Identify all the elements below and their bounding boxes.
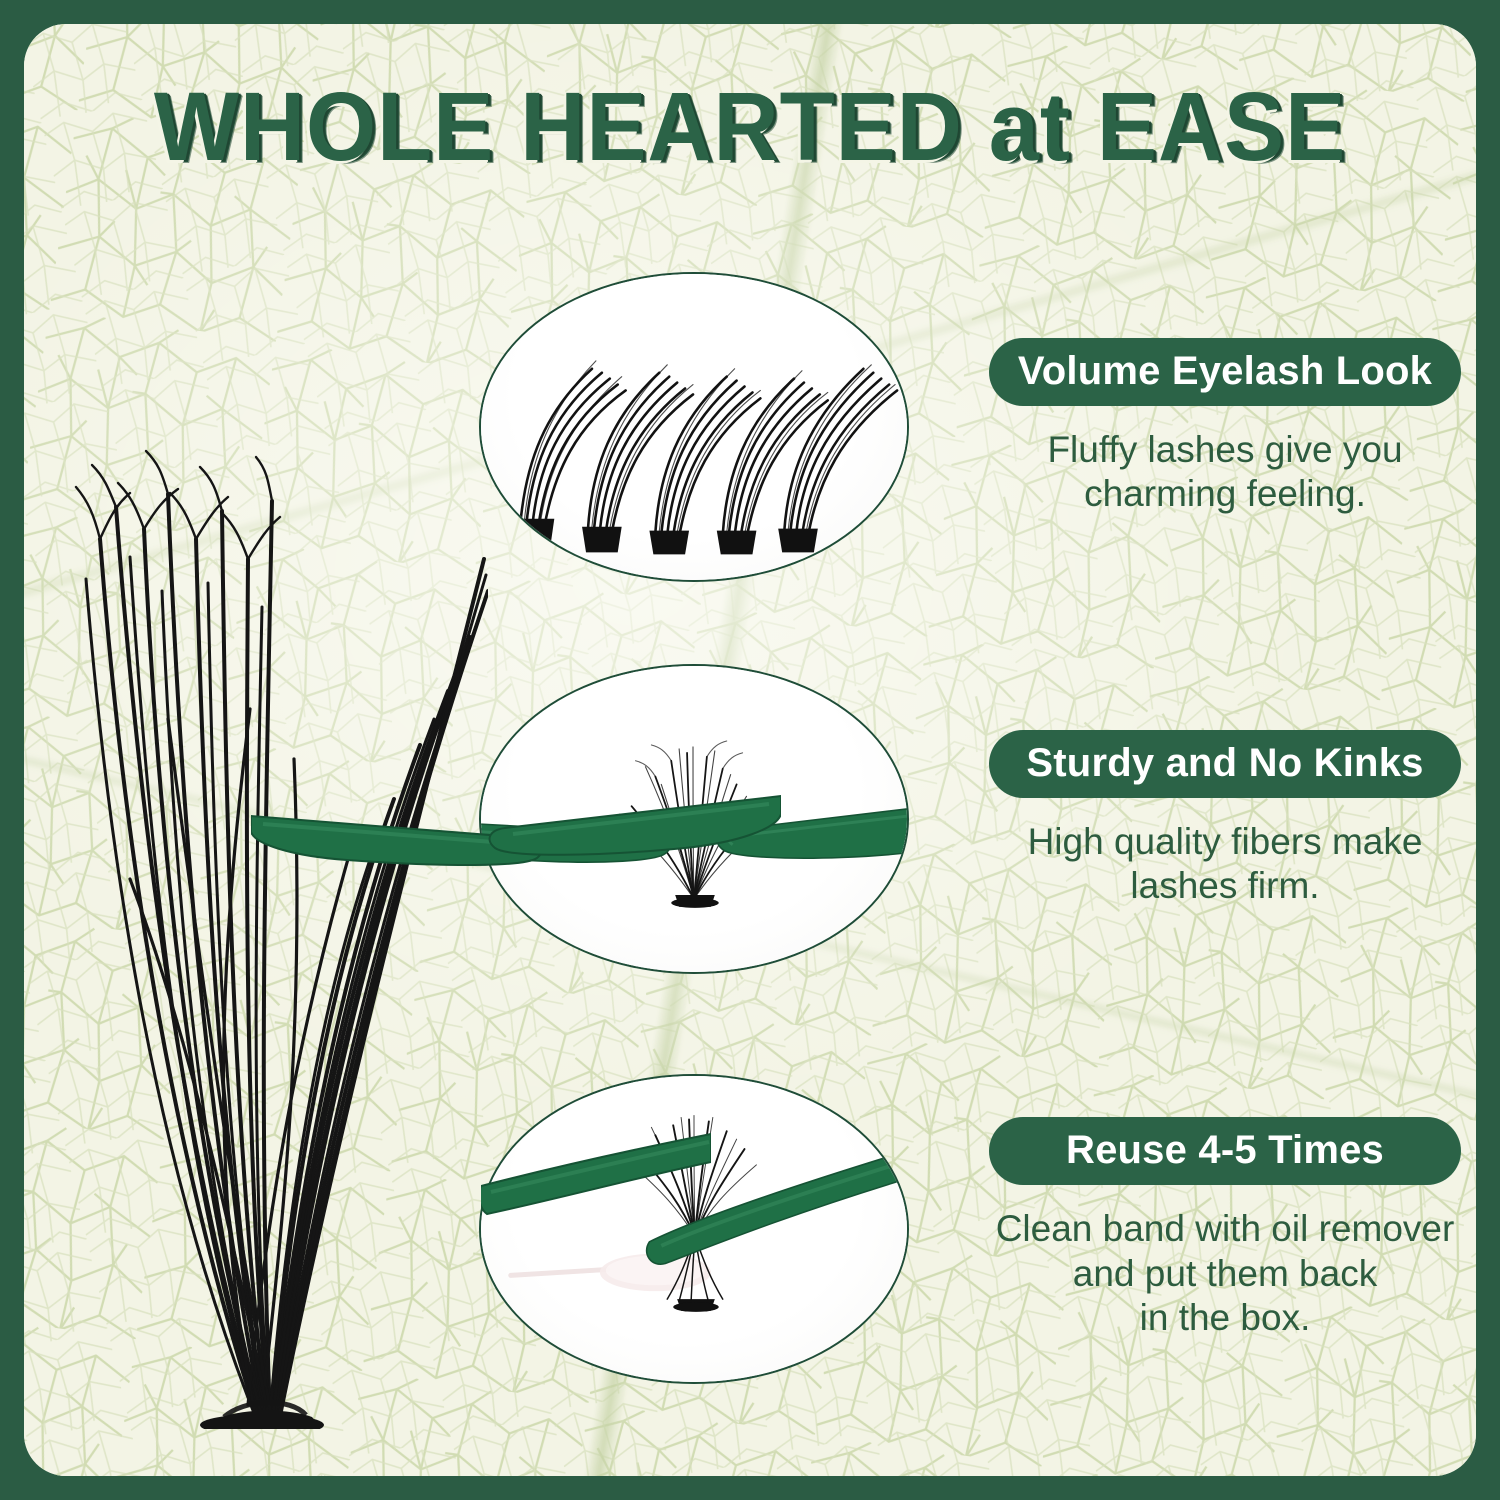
feature-desc-3-line-1: Clean band with oil remover xyxy=(951,1207,1476,1251)
poster-panel: WHOLE HEARTED at EASE xyxy=(24,24,1476,1476)
feature-desc-2-line-2: lashes firm. xyxy=(951,864,1476,908)
lash-fan-illustration-icon xyxy=(24,239,488,1429)
feature-row-sturdy-and-no-kinks: Sturdy and No Kinks High quality fibers … xyxy=(479,654,1476,984)
feature-image-oval-1 xyxy=(479,272,909,582)
feature-image-clip-3 xyxy=(481,1076,907,1382)
hero-lash-image xyxy=(24,239,488,1429)
title-container: WHOLE HEARTED at EASE xyxy=(24,76,1476,178)
feature-text-2: Sturdy and No Kinks High quality fibers … xyxy=(909,730,1476,909)
feature-desc-1: Fluffy lashes give you charming feeling. xyxy=(951,428,1476,517)
feature-image-oval-3 xyxy=(479,1074,909,1384)
feature-desc-2-line-1: High quality fibers make xyxy=(951,820,1476,864)
feature-row-reuse-4-5-times: Reuse 4-5 Times Clean band with oil remo… xyxy=(479,1064,1476,1394)
feature-image-clip-1 xyxy=(481,274,907,580)
feature-image-clip-2 xyxy=(481,666,907,972)
feature-desc-3: Clean band with oil remover and put them… xyxy=(951,1207,1476,1340)
tweezer-holding-cluster-with-swab-icon xyxy=(481,1076,907,1382)
feature-pill-1: Volume Eyelash Look xyxy=(989,338,1461,406)
feature-image-oval-2 xyxy=(479,664,909,974)
tweezer-left-arm xyxy=(481,822,671,862)
feature-desc-3-line-2: and put them back xyxy=(951,1252,1476,1296)
feature-row-volume-eyelash-look: Volume Eyelash Look Fluffy lashes give y… xyxy=(479,262,1476,592)
feature-text-3: Reuse 4-5 Times Clean band with oil remo… xyxy=(909,1117,1476,1340)
feature-text-1: Volume Eyelash Look Fluffy lashes give y… xyxy=(909,338,1476,517)
poster-frame: WHOLE HEARTED at EASE xyxy=(0,0,1500,1500)
content-area: Volume Eyelash Look Fluffy lashes give y… xyxy=(24,24,1476,1476)
feature-pill-3: Reuse 4-5 Times xyxy=(989,1117,1461,1185)
lash-cluster-row-icon xyxy=(481,274,907,580)
feature-desc-1-line-2: charming feeling. xyxy=(951,472,1476,516)
feature-pill-2: Sturdy and No Kinks xyxy=(989,730,1461,798)
tweezers-with-lash-cluster-icon xyxy=(481,666,907,972)
feature-desc-1-line-1: Fluffy lashes give you xyxy=(951,428,1476,472)
feature-desc-3-line-3: in the box. xyxy=(951,1296,1476,1340)
page-title: WHOLE HEARTED at EASE xyxy=(154,76,1346,178)
tweezer-right-arm xyxy=(717,804,907,858)
feature-desc-2: High quality fibers make lashes firm. xyxy=(951,820,1476,909)
